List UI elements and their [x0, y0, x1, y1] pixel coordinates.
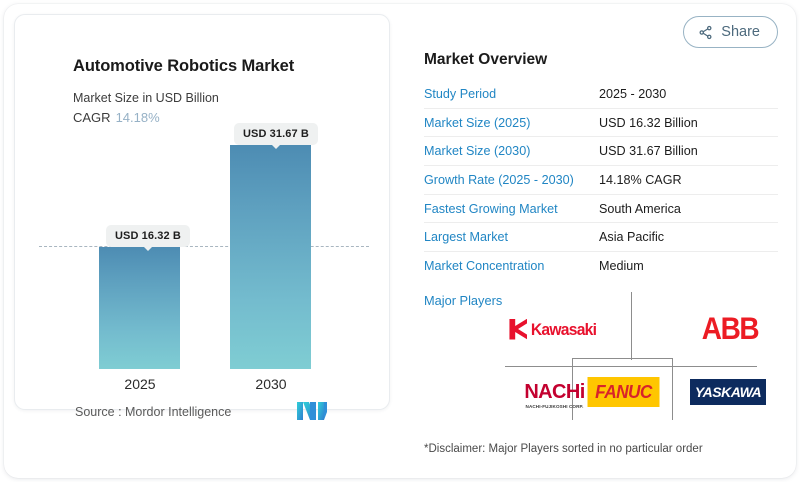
chart-card: Automotive Robotics Market Market Size i…	[14, 14, 390, 410]
kawasaki-mark-icon	[509, 319, 527, 340]
row-value: USD 16.32 Billion	[599, 116, 698, 130]
share-button[interactable]: Share	[683, 16, 778, 48]
kawasaki-wordmark: Kawasaki	[531, 321, 596, 338]
logo-kawasaki: Kawasaki	[502, 312, 607, 346]
table-row: Fastest Growing Market South America	[424, 195, 778, 224]
table-row: Market Size (2025) USD 16.32 Billion	[424, 109, 778, 138]
table-row: Growth Rate (2025 - 2030) 14.18% CAGR	[424, 166, 778, 195]
logo-fanuc: FANUC	[578, 374, 668, 410]
fanuc-wordmark: FANUC	[587, 377, 659, 407]
yaskawa-wordmark: YASKAWA	[690, 379, 766, 405]
disclaimer-text: *Disclaimer: Major Players sorted in no …	[424, 443, 703, 455]
table-row: Study Period 2025 - 2030	[424, 80, 778, 109]
table-row: Market Size (2030) USD 31.67 Billion	[424, 137, 778, 166]
nachi-wordmark: NACHi	[524, 382, 584, 402]
row-value: 14.18% CAGR	[599, 173, 682, 187]
mordor-intelligence-logo	[296, 401, 328, 421]
screenshot-root: Share Automotive Robotics Market Market …	[0, 0, 800, 482]
row-value: Medium	[599, 259, 644, 273]
connector-vertical	[631, 292, 632, 360]
abb-wordmark: ABB	[702, 313, 758, 344]
bar-2025	[99, 247, 180, 369]
row-label: Largest Market	[424, 230, 599, 244]
row-value: Asia Pacific	[599, 230, 664, 244]
chart-gridline	[39, 246, 369, 247]
share-button-label: Share	[721, 24, 760, 40]
row-value: USD 31.67 Billion	[599, 144, 698, 158]
row-label: Study Period	[424, 87, 599, 101]
bar-label-2025: USD 16.32 B	[106, 225, 190, 247]
row-value: 2025 - 2030	[599, 87, 666, 101]
row-label: Growth Rate (2025 - 2030)	[424, 173, 599, 187]
x-tick-2030: 2030	[230, 376, 312, 392]
major-players-diagram: Kawasaki ABB NACHi NACHI-FUJIKOSHI CORP.…	[500, 290, 785, 420]
row-value: South America	[599, 202, 681, 216]
bar-chart-plot: USD 16.32 B USD 31.67 B 2025 2030	[15, 15, 391, 411]
bar-2030	[230, 145, 311, 369]
chart-source: Source : Mordor Intelligence	[75, 405, 231, 419]
row-label: Market Concentration	[424, 259, 599, 273]
row-label: Fastest Growing Market	[424, 202, 599, 216]
bar-label-2030: USD 31.67 B	[234, 123, 318, 145]
row-label: Market Size (2025)	[424, 116, 599, 130]
table-row: Market Concentration Medium	[424, 252, 778, 281]
share-icon	[698, 25, 713, 40]
major-players-title: Major Players	[424, 293, 502, 308]
market-overview-table: Study Period 2025 - 2030 Market Size (20…	[424, 80, 778, 281]
x-tick-2025: 2025	[99, 376, 181, 392]
table-row: Largest Market Asia Pacific	[424, 223, 778, 252]
row-label: Market Size (2030)	[424, 144, 599, 158]
nachi-subtext: NACHI-FUJIKOSHI CORP.	[524, 405, 584, 410]
overview-title: Market Overview	[424, 51, 547, 69]
logo-yaskawa: YASKAWA	[682, 374, 774, 410]
logo-abb: ABB	[680, 310, 780, 348]
